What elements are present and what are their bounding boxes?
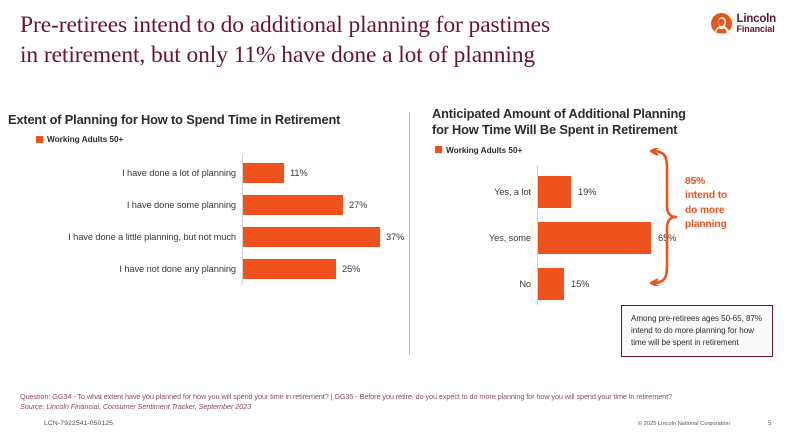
brace-text-line-4: planning: [685, 219, 727, 230]
left-legend-label: Working Adults 50+: [47, 134, 123, 144]
bar-row: I have done a little planning, but not m…: [8, 226, 404, 248]
brace-annotation-text: 85% intend to do more planning: [685, 175, 765, 233]
bar-shape: [538, 268, 564, 300]
bar-value-label: 15%: [571, 279, 589, 289]
lincoln-portrait-icon: [711, 13, 732, 34]
bar-value-label: 19%: [578, 187, 596, 197]
lincoln-financial-logo: Lincoln Financial: [711, 13, 777, 35]
bar-shape: [538, 222, 651, 254]
left-chart-legend: Working Adults 50+: [36, 134, 404, 144]
brace-text-line-3: do more: [685, 205, 725, 216]
bar-category-label: I have not done any planning: [6, 264, 236, 274]
right-legend-label: Working Adults 50+: [446, 145, 522, 155]
callout-text: Among pre-retirees ages 50-65, 87% inten…: [631, 313, 764, 348]
bar-shape: [243, 259, 336, 279]
footer-question-text: Question: GG34 - To what extent have you…: [20, 392, 774, 401]
brace-text-line-1: 85%: [685, 176, 705, 187]
bar-value-label: 11%: [290, 168, 308, 178]
page-title: Pre-retirees intend to do additional pla…: [20, 10, 660, 70]
footer-lcn-code: LCN-7922541-050125: [44, 420, 113, 427]
right-chart-title-line-2: for How Time Will Be Spent in Retirement: [432, 122, 784, 138]
right-chart-title: Anticipated Amount of Additional Plannin…: [432, 106, 784, 139]
bar-category-label: Yes, a lot: [431, 187, 531, 197]
bar-shape: [243, 163, 284, 183]
left-chart-panel: Extent of Planning for How to Spend Time…: [8, 112, 404, 284]
bar-shape: [243, 195, 343, 215]
logo-name-line-2: Financial: [737, 25, 777, 35]
bar-row: I have not done any planning 25%: [8, 258, 404, 280]
footer-source-text: Source: Lincoln Financial, Consumer Sent…: [20, 402, 251, 411]
right-chart-legend: Working Adults 50+: [435, 145, 784, 155]
bar-value-label: 25%: [342, 264, 360, 274]
brace-annotation-icon: [645, 148, 685, 286]
bar-shape: [538, 176, 571, 208]
bar-category-label: Yes, some: [431, 233, 531, 243]
left-bar-chart: I have done a lot of planning 11% I have…: [8, 154, 404, 284]
bar-row: I have done a lot of planning 11%: [8, 162, 404, 184]
logo-wordmark: Lincoln Financial: [737, 13, 777, 35]
bar-shape: [243, 227, 380, 247]
bar-category-label: I have done a lot of planning: [6, 168, 236, 178]
left-chart-title: Extent of Planning for How to Spend Time…: [8, 112, 404, 128]
page-title-line-2: in retirement, but only 11% have done a …: [20, 40, 660, 70]
bar-category-label: I have done a little planning, but not m…: [6, 232, 236, 242]
footer-copyright-text: © 2025 Lincoln National Corporation: [638, 421, 730, 427]
bar-row: No 15%: [432, 267, 784, 301]
legend-swatch-icon: [435, 146, 442, 153]
bar-category-label: No: [431, 279, 531, 289]
bar-value-label: 27%: [349, 200, 367, 210]
panel-divider: [409, 112, 410, 355]
bar-value-label: 37%: [386, 232, 404, 242]
brace-text-line-2: intend to: [685, 190, 727, 201]
bar-row: I have done some planning 27%: [8, 194, 404, 216]
legend-swatch-icon: [36, 136, 43, 143]
right-chart-title-line-1: Anticipated Amount of Additional Plannin…: [432, 106, 784, 122]
footer-page-number: 5: [768, 420, 771, 427]
page-title-line-1: Pre-retirees intend to do additional pla…: [20, 10, 660, 40]
bar-category-label: I have done some planning: [6, 200, 236, 210]
callout-box: Among pre-retirees ages 50-65, 87% inten…: [621, 305, 773, 357]
